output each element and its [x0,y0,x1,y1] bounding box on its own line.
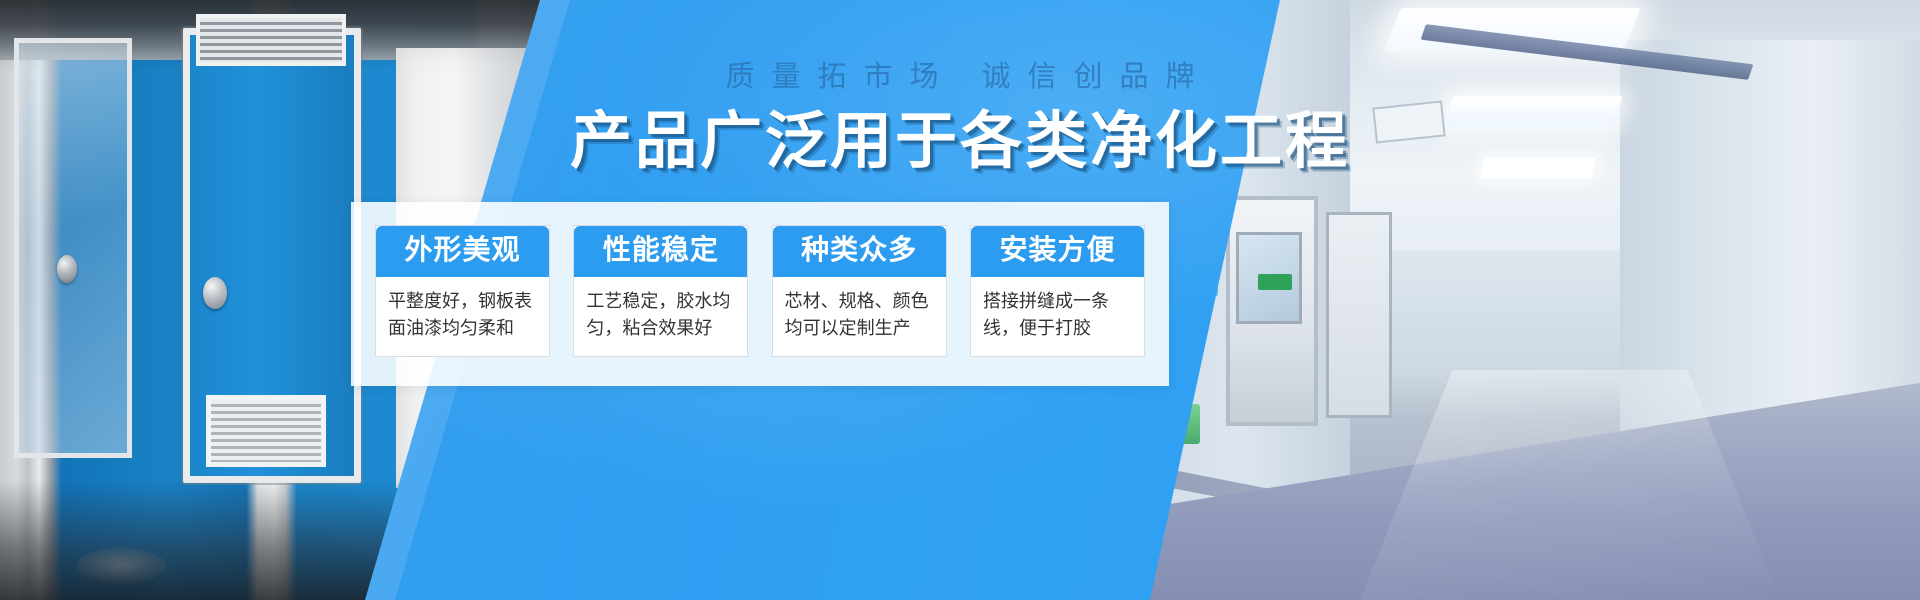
feature-card-4-title: 安装方便 [971,226,1144,277]
cabin-handle-left-icon [57,255,77,283]
wall-sign [1372,100,1445,143]
feature-card-2[interactable]: 性能稳定 工艺稳定，胶水均匀，粘合效果好 [573,225,748,357]
exit-sign-icon [1258,274,1292,290]
feature-card-1-body: 平整度好，钢板表面油漆均匀柔和 [376,277,549,356]
ceiling-light-mid [1443,96,1623,126]
ceiling-light-far [1480,158,1597,178]
feature-card-3-body: 芯材、规格、颜色均可以定制生产 [773,277,946,356]
features-card-row: 外形美观 平整度好，钢板表面油漆均匀柔和 性能稳定 工艺稳定，胶水均匀，粘合效果… [351,202,1169,386]
promo-banner: 质量拓市场诚信创品牌 产品广泛用于各类净化工程 外形美观 平整度好，钢板表面油漆… [0,0,1920,600]
floor-reflection [76,548,166,584]
feature-card-3-title: 种类众多 [773,226,946,277]
cabin-door-handle-icon [203,277,227,309]
feature-card-3[interactable]: 种类众多 芯材、规格、颜色均可以定制生产 [772,225,947,357]
feature-card-4[interactable]: 安装方便 搭接拼缝成一条线，便于打胶 [970,225,1145,357]
cabin-vent-bottom [206,395,326,467]
feature-card-2-body: 工艺稳定，胶水均匀，粘合效果好 [574,277,747,356]
feature-card-2-title: 性能稳定 [574,226,747,277]
corridor-door-secondary [1326,212,1392,418]
feature-card-1-title: 外形美观 [376,226,549,277]
feature-card-1[interactable]: 外形美观 平整度好，钢板表面油漆均匀柔和 [375,225,550,357]
cabin-glass-panel [14,38,132,458]
feature-card-4-body: 搭接拼缝成一条线，便于打胶 [971,277,1144,356]
cabin-vent-top [196,14,346,66]
